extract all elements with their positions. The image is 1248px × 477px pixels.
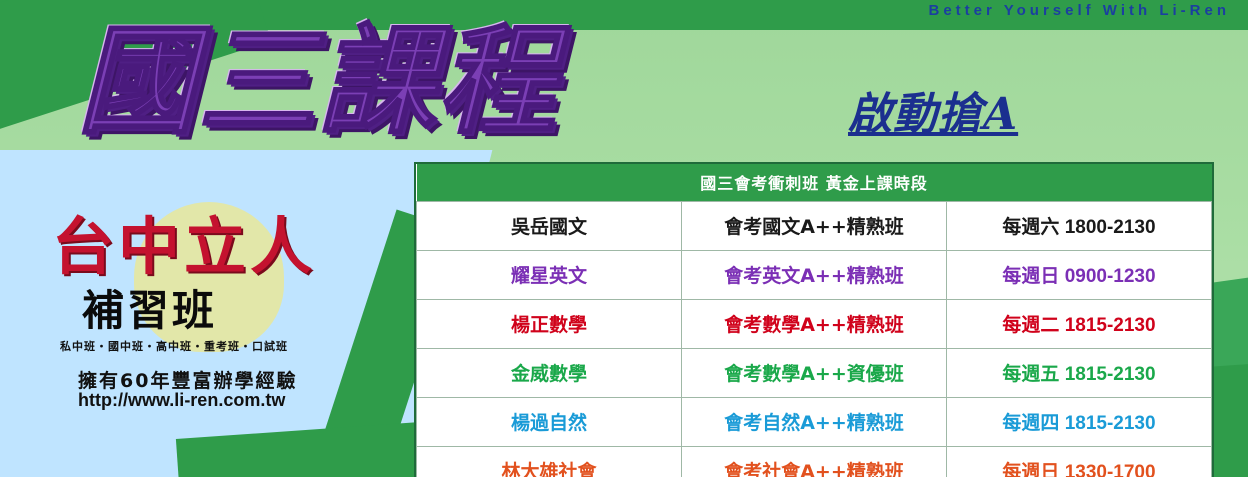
cell-course: 會考社會A++精熟班 xyxy=(682,447,947,477)
table-row: 耀星英文會考英文A++精熟班每週日 0900-1230 xyxy=(417,251,1212,300)
cell-teacher: 耀星英文 xyxy=(417,251,682,300)
schedule-table-container: 國三會考衝刺班 黃金上課時段 吳岳國文會考國文A++精熟班每週六 1800-21… xyxy=(414,162,1214,477)
cell-time: 每週日 1330-1700 xyxy=(947,447,1212,477)
cell-teacher: 楊過自然 xyxy=(417,398,682,447)
cell-time: 每週日 0900-1230 xyxy=(947,251,1212,300)
schedule-table: 國三會考衝刺班 黃金上課時段 吳岳國文會考國文A++精熟班每週六 1800-21… xyxy=(416,164,1212,477)
schedule-table-head: 國三會考衝刺班 黃金上課時段 xyxy=(417,164,1212,202)
cell-course: 會考數學A++精熟班 xyxy=(682,300,947,349)
logo-experience-text: 擁有60年豐富辦學經驗 xyxy=(78,366,297,393)
cell-time: 每週四 1815-2130 xyxy=(947,398,1212,447)
cell-teacher: 金威數學 xyxy=(417,349,682,398)
logo-website-url[interactable]: http://www.li-ren.com.tw xyxy=(78,390,285,411)
logo-main-text: 台中立人 xyxy=(52,216,316,278)
cell-time: 每週六 1800-2130 xyxy=(947,202,1212,251)
tagline: Better Yourself With Li-Ren xyxy=(929,2,1231,19)
cell-course: 會考數學A++資優班 xyxy=(682,349,947,398)
promo-banner: Better Yourself With Li-Ren 國三課程 啟動搶A 台中… xyxy=(0,0,1248,477)
logo-class-list: 私中班・國中班・高中班・重考班・口試班 xyxy=(60,338,288,354)
table-row: 金威數學會考數學A++資優班每週五 1815-2130 xyxy=(417,349,1212,398)
table-row: 楊正數學會考數學A++精熟班每週二 1815-2130 xyxy=(417,300,1212,349)
table-row: 林大雄社會會考社會A++精熟班每週日 1330-1700 xyxy=(417,447,1212,477)
logo-sub-text: 補習班 xyxy=(82,290,217,332)
cell-course: 會考英文A++精熟班 xyxy=(682,251,947,300)
table-header-row: 國三會考衝刺班 黃金上課時段 xyxy=(417,164,1212,202)
table-row: 吳岳國文會考國文A++精熟班每週六 1800-2130 xyxy=(417,202,1212,251)
cell-teacher: 林大雄社會 xyxy=(417,447,682,477)
cell-time: 每週二 1815-2130 xyxy=(947,300,1212,349)
cell-course: 會考國文A++精熟班 xyxy=(682,202,947,251)
logo: 台中立人 補習班 私中班・國中班・高中班・重考班・口試班 擁有60年豐富辦學經驗… xyxy=(22,210,382,440)
table-row: 楊過自然會考自然A++精熟班每週四 1815-2130 xyxy=(417,398,1212,447)
table-header-cell: 國三會考衝刺班 黃金上課時段 xyxy=(417,164,1212,202)
schedule-table-body: 吳岳國文會考國文A++精熟班每週六 1800-2130耀星英文會考英文A++精熟… xyxy=(417,202,1212,477)
page-title: 國三課程 xyxy=(78,22,558,140)
sub-headline: 啟動搶A xyxy=(848,78,1018,142)
cell-teacher: 吳岳國文 xyxy=(417,202,682,251)
cell-course: 會考自然A++精熟班 xyxy=(682,398,947,447)
cell-time: 每週五 1815-2130 xyxy=(947,349,1212,398)
cell-teacher: 楊正數學 xyxy=(417,300,682,349)
